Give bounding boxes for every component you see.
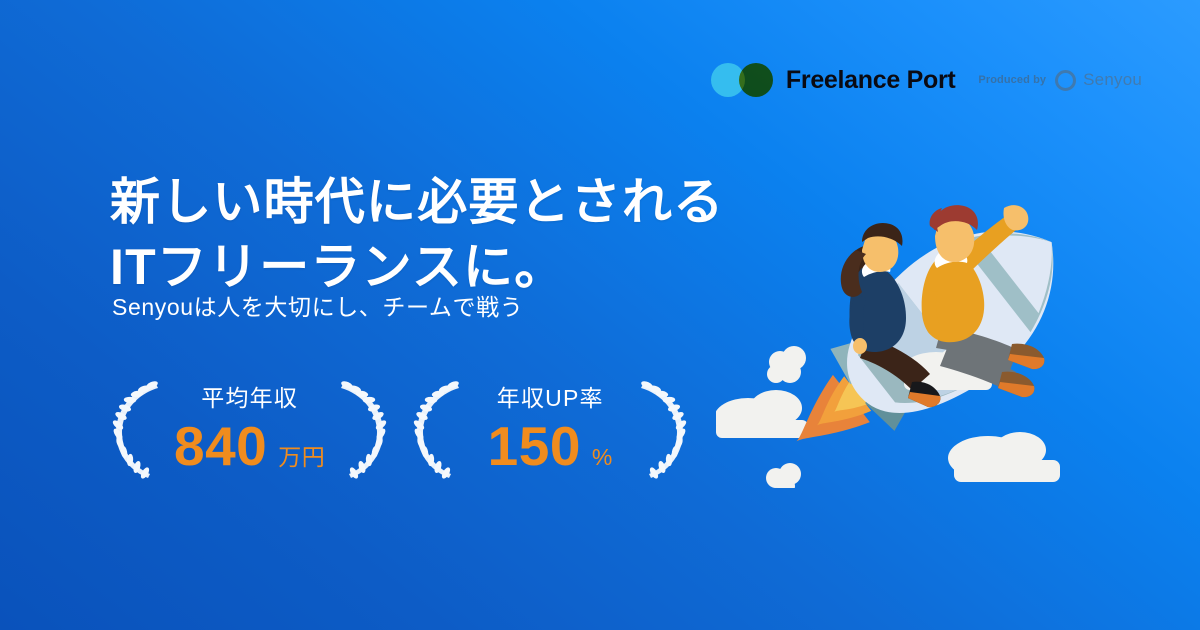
produced-by-label: Produced by xyxy=(978,74,1046,86)
laurel-wreath-icon xyxy=(329,378,391,482)
producer-name: Senyou xyxy=(1083,70,1142,90)
hero-banner: Freelance Port Produced by Senyou 新しい時代に… xyxy=(0,0,1200,630)
logo-circle-orange xyxy=(739,63,773,97)
brand-name: Freelance Port xyxy=(786,66,955,95)
laurel-wreath-icon xyxy=(629,378,691,482)
stats-row: 平均年収 840 万円 xyxy=(108,374,709,486)
brand-header: Freelance Port Produced by Senyou xyxy=(711,57,1142,103)
stat-label: 年収UP率 xyxy=(497,387,604,410)
rocket-with-two-people-icon xyxy=(716,168,1116,488)
stat-unit: % xyxy=(592,444,613,471)
stat-number: 150 xyxy=(488,419,581,474)
senyou-ring-icon xyxy=(1055,70,1076,91)
stat-badge-income-up-rate: 年収UP率 150 % xyxy=(409,374,691,486)
headline-line-1: 新しい時代に必要とされる xyxy=(110,170,724,235)
produced-by-credit: Produced by Senyou xyxy=(978,70,1142,91)
stat-value-group: 840 万円 xyxy=(174,419,325,474)
hero-subtitle: Senyouは人を大切にし、チームで戦う xyxy=(112,288,523,322)
stat-number: 840 xyxy=(174,419,267,474)
laurel-wreath-icon xyxy=(108,378,170,482)
stat-unit: 万円 xyxy=(278,438,325,472)
two-overlapping-circles-icon xyxy=(711,63,773,97)
stat-badge-average-income: 平均年収 840 万円 xyxy=(108,374,391,486)
stat-value-group: 150 % xyxy=(488,419,613,474)
laurel-wreath-icon xyxy=(409,378,471,482)
hero-headline: 新しい時代に必要とされる ITフリーランスに。 xyxy=(110,170,724,300)
stat-content: 年収UP率 150 % xyxy=(471,387,629,474)
stat-content: 平均年収 840 万円 xyxy=(170,387,329,474)
stat-label: 平均年収 xyxy=(201,387,298,410)
cloud-shapes xyxy=(716,346,808,488)
